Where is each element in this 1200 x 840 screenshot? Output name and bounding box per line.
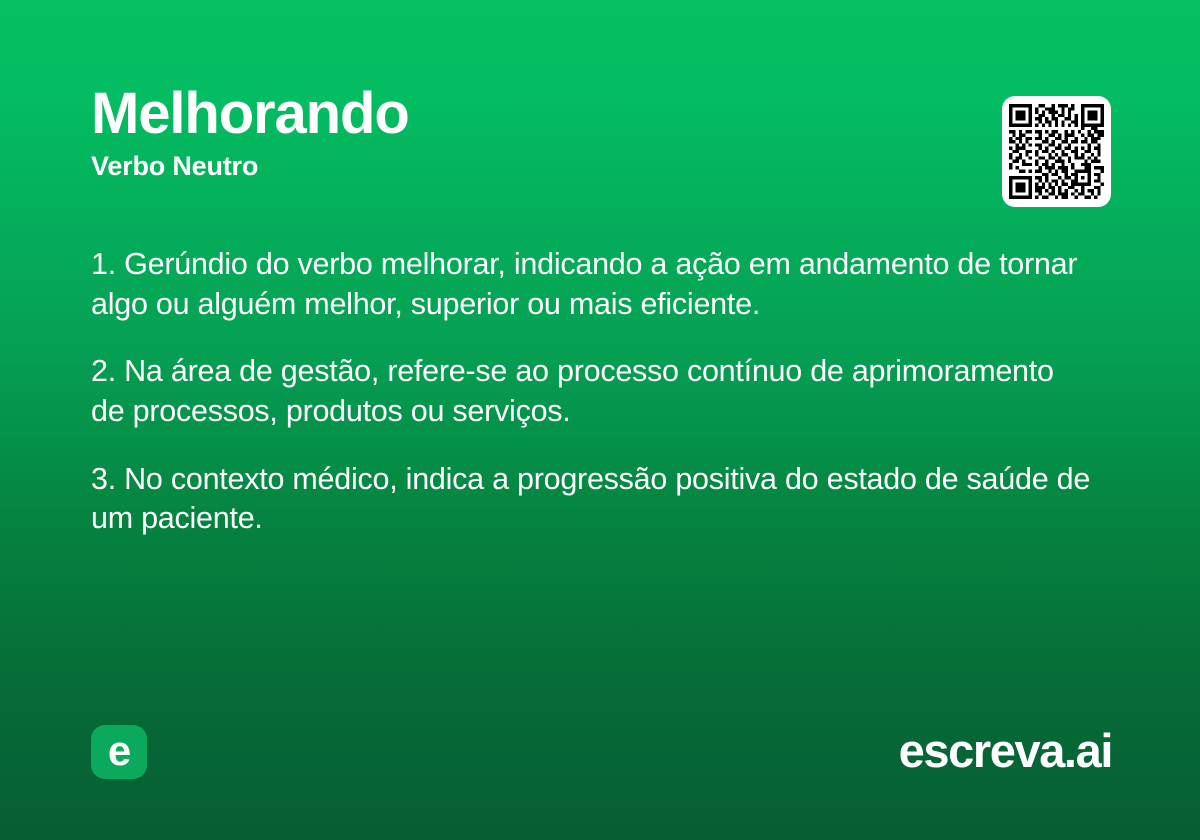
definitions-list: 1. Gerúndio do verbo melhorar, indicando…: [91, 245, 1101, 539]
definition-item: 3. No contexto médico, indica a progress…: [91, 460, 1091, 539]
brand-wordmark: escreva.ai: [899, 724, 1112, 778]
definition-item: 2. Na área de gestão, refere-se ao proce…: [91, 352, 1091, 431]
definition-item: 1. Gerúndio do verbo melhorar, indicando…: [91, 245, 1091, 324]
logo-letter-e-icon: e: [108, 730, 130, 772]
word-class-subtitle: Verbo Neutro: [91, 152, 1109, 182]
definition-card: Melhorando Verbo Neutro: [0, 0, 1200, 840]
brand-logo-mark[interactable]: e: [91, 725, 147, 779]
qr-code-panel[interactable]: [1002, 96, 1111, 207]
page-title: Melhorando: [91, 84, 1109, 143]
qr-code-icon: [1009, 104, 1104, 199]
card-header: Melhorando Verbo Neutro: [91, 84, 1109, 182]
